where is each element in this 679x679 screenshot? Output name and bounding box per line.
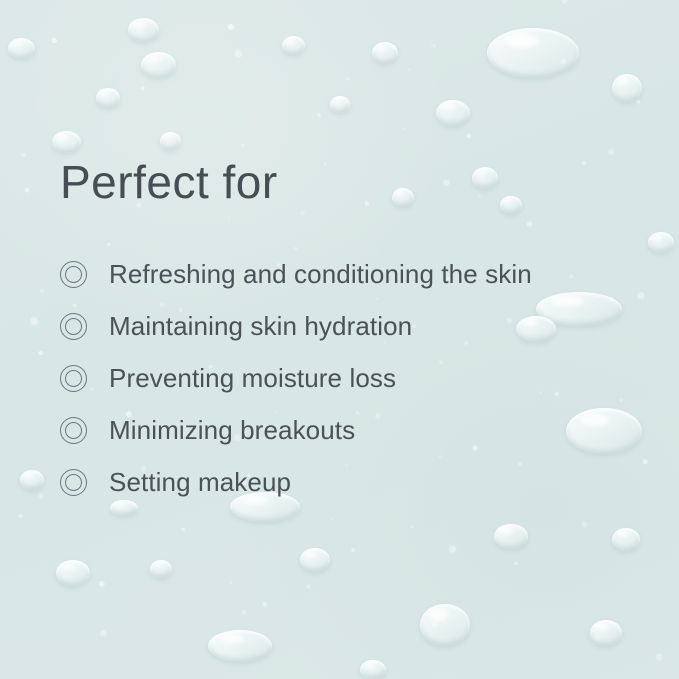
list-item: Refreshing and conditioning the skin xyxy=(60,248,660,300)
list-item-label: Setting makeup xyxy=(109,467,291,498)
list-item-label: Refreshing and conditioning the skin xyxy=(109,259,532,290)
double-circle-icon xyxy=(60,261,87,288)
list-item: Setting makeup xyxy=(60,456,660,508)
list-item-label: Maintaining skin hydration xyxy=(109,311,412,342)
product-benefits-card: Perfect for Refreshing and conditioning … xyxy=(0,0,679,679)
list-item-label: Preventing moisture loss xyxy=(109,363,396,394)
list-item-label: Minimizing breakouts xyxy=(109,415,355,446)
page-title: Perfect for xyxy=(60,155,278,209)
content-layer: Perfect for Refreshing and conditioning … xyxy=(0,0,679,679)
double-circle-icon xyxy=(60,313,87,340)
double-circle-icon xyxy=(60,417,87,444)
double-circle-icon xyxy=(60,365,87,392)
list-item: Maintaining skin hydration xyxy=(60,300,660,352)
list-item: Preventing moisture loss xyxy=(60,352,660,404)
benefits-list: Refreshing and conditioning the skin Mai… xyxy=(60,248,660,508)
double-circle-icon xyxy=(60,469,87,496)
list-item: Minimizing breakouts xyxy=(60,404,660,456)
